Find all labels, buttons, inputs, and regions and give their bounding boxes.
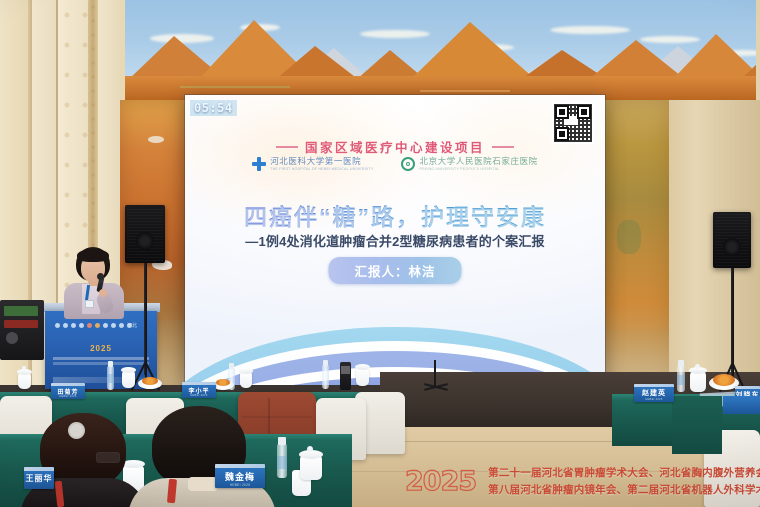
bottle-label — [677, 375, 685, 385]
right-autumn-mural-panel — [605, 100, 669, 390]
bottle-label — [107, 374, 114, 383]
namecard-name: 王丽华 — [24, 473, 54, 484]
slide-subtitle: —1例4处消化道肿瘤合并2型糖尿病患者的个案汇报 — [185, 231, 605, 250]
table-namecard: 田菊芳 HEBEI 2025 — [51, 383, 85, 399]
slide-title: 四癌伴“糖”路，护理守安康 — [185, 198, 605, 232]
table-namecard: 赵建英 HEBEI 2025 — [634, 384, 674, 402]
presenter-person — [58, 247, 132, 317]
podium-logo-text: 河北 — [127, 322, 137, 329]
pa-speaker-left — [125, 205, 126, 206]
header-dash-right — [492, 146, 514, 148]
namecard-sub: HEBEI 2025 — [182, 394, 216, 397]
namecard-sub: HEBEI 2025 — [215, 483, 265, 487]
bottle-cap — [323, 360, 328, 366]
right-table-signage — [723, 396, 760, 414]
tea-cup-knob — [22, 366, 26, 370]
banner-line-1: 第二十一届河北省胃肿瘤学术大会、河北省胸内腹外营养会议 — [488, 465, 760, 480]
tea-cup — [122, 371, 135, 388]
bottle-label — [277, 456, 287, 469]
tea-cup — [240, 372, 252, 388]
banner-line-2: 第八届河北省肿瘤内镜年会、第二届河北省机器人外科学术论坛 — [488, 482, 760, 497]
eyeglasses-icon — [96, 452, 120, 463]
tea-cup — [356, 368, 369, 386]
mural-foliage — [617, 220, 641, 254]
tea-cup-knob — [695, 364, 700, 369]
banner-text-block: 第二十一届河北省胃肿瘤学术大会、河北省胸内腹外营养会议 第八届河北省肿瘤内镜年会… — [488, 465, 760, 497]
pa-speaker-pole — [144, 263, 147, 375]
table-namecard: 李小平 HEBEI 2025 — [182, 382, 216, 398]
thermos-label — [341, 366, 350, 374]
tea-cup-lid — [239, 368, 253, 374]
conference-hall-scene: 05:54 国家区域医疗中心建设项目 河北医科大学第一医院 THE FIRST … — [0, 0, 760, 507]
crane-figure — [148, 136, 164, 143]
banner-year: 2025 — [405, 466, 476, 497]
pa-speaker-cabinet — [125, 205, 165, 263]
microphone-head — [97, 273, 104, 280]
hospital-2-name: 北京大学人民医院石家庄医院 — [419, 157, 537, 166]
presenter-badge: 汇报人：林洁 — [328, 257, 461, 284]
medical-cross-icon — [252, 157, 266, 171]
tea-cup-lid — [121, 367, 136, 373]
water-bottle — [322, 365, 329, 389]
table-namecard: 王丽华 — [24, 467, 54, 489]
plated-food — [713, 374, 735, 386]
namecard-sub: HEBEI 2025 — [51, 395, 85, 398]
pa-woofer-icon — [723, 238, 741, 256]
speaker-podium: 河北 2025 — [45, 311, 157, 389]
slide-hospital-logos: 河北医科大学第一医院 THE FIRST HOSPITAL OF HEBEI M… — [185, 157, 605, 171]
tea-cup — [690, 372, 706, 392]
podium-year: 2025 — [45, 344, 157, 353]
mountain-mural — [120, 0, 760, 100]
bottle-cap — [229, 363, 234, 369]
av-panel-green — [4, 306, 38, 316]
presentation-screen[interactable]: 05:54 国家区域医疗中心建设项目 河北医科大学第一医院 THE FIRST … — [185, 95, 605, 385]
hospital-2-subtitle: PEKING UNIVERSITY PEOPLE'S HOSPITAL — [419, 168, 537, 172]
plated-food — [216, 379, 230, 386]
hospital-logo-1: 河北医科大学第一医院 THE FIRST HOSPITAL OF HEBEI M… — [252, 157, 373, 171]
bottle-cap — [108, 361, 113, 367]
slide-header: 国家区域医疗中心建设项目 — [185, 137, 605, 157]
hair-clip — [70, 424, 83, 437]
av-knob — [6, 332, 18, 344]
namecard-name: 魏金梅 — [215, 470, 265, 483]
qr-eye-top-right — [577, 105, 591, 119]
hospital-1-subtitle: THE FIRST HOSPITAL OF HEBEI MEDICAL UNIV… — [270, 168, 373, 172]
header-dash-left — [276, 146, 298, 148]
mic-stand-pole — [434, 360, 436, 388]
tea-cup — [300, 456, 322, 480]
plated-food — [142, 377, 158, 385]
bottle-cap — [278, 437, 286, 445]
namecard-name: 赵建英 — [634, 388, 674, 398]
pa-speaker-pole — [731, 268, 734, 378]
namecard-sub: HEBEI 2025 — [634, 398, 674, 401]
mural-frame — [120, 0, 760, 100]
green-ring-icon — [401, 157, 415, 171]
pa-speaker-cabinet — [713, 212, 751, 268]
tea-cup-lid — [355, 364, 370, 370]
podium-logo-dots — [55, 323, 132, 328]
presentation-timer: 05:54 — [190, 100, 237, 116]
audience-collar — [188, 477, 218, 491]
audience-table-row2-right — [672, 396, 722, 454]
av-panel-red — [4, 320, 38, 328]
hospital-logo-2: 北京大学人民医院石家庄医院 PEKING UNIVERSITY PEOPLE'S… — [401, 157, 537, 171]
slide-header-text: 国家区域医疗中心建设项目 — [305, 137, 485, 156]
pa-woofer-icon — [136, 232, 154, 250]
presenter-fringe — [77, 249, 109, 262]
table-namecard: 魏金梅 HEBEI 2025 — [215, 464, 265, 488]
tea-cup-knob — [307, 446, 313, 452]
presenter-id-badge — [85, 300, 94, 308]
hospital-1-name: 河北医科大学第一医院 — [270, 157, 373, 166]
pa-speaker-right — [713, 212, 714, 213]
event-banner: 2025 第二十一届河北省胃肿瘤学术大会、河北省胸内腹外营养会议 第八届河北省肿… — [405, 463, 755, 499]
presenter-hand — [99, 289, 107, 297]
qr-eye-top-left — [555, 105, 569, 119]
tea-cup — [18, 373, 31, 389]
bottle-cap — [678, 360, 684, 367]
